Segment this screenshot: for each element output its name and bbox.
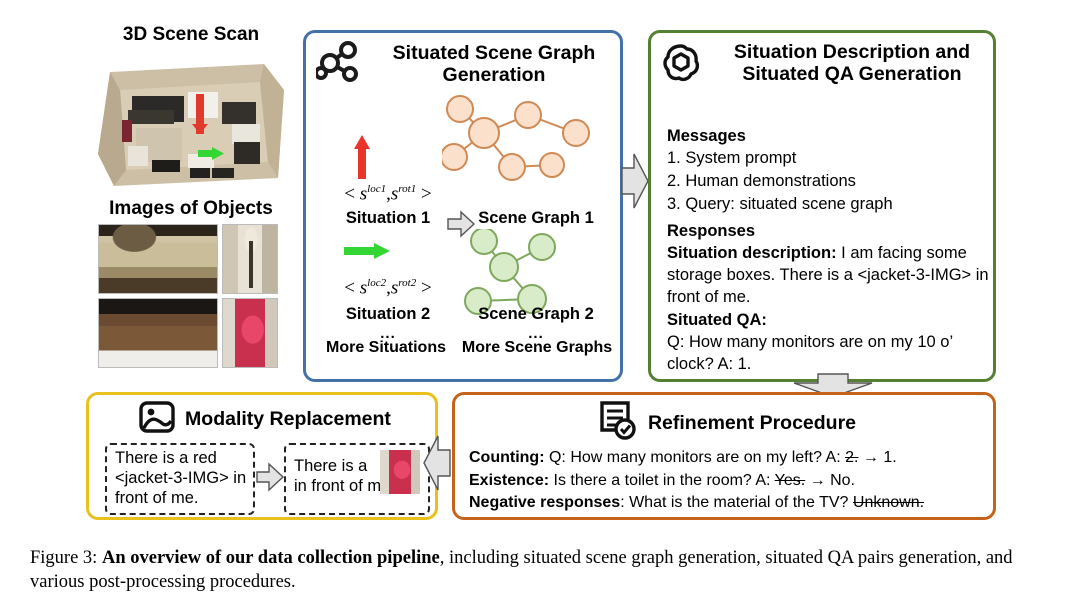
situated-scene-graph-panel: Situated Scene Graph Generation < sloc1,… (303, 30, 623, 382)
refinement-struck-negative: Unknown. (853, 494, 924, 511)
situation-description-label: Situation description: (667, 244, 837, 262)
modality-before-text: There is a red <jacket-3-IMG> in front o… (115, 449, 246, 507)
scene-scan-title: 3D Scene Scan (84, 24, 298, 46)
situation-description-panel: Situation Description and Situated QA Ge… (648, 30, 996, 382)
openai-logo-icon (659, 39, 703, 88)
refinement-row-negative: Negative responses: What is the material… (469, 492, 989, 515)
gpt-panel-title: Situation Description and Situated QA Ge… (713, 42, 991, 86)
dresser-photo (98, 224, 218, 294)
scene-graph-2-label: Scene Graph 2 (456, 305, 616, 324)
modality-replacement-panel: Modality Replacement There is a red <jac… (86, 392, 438, 520)
refinement-panel-body: Counting: Q: How many monitors are on my… (469, 447, 989, 515)
messages-heading: Messages (667, 126, 989, 148)
green-situation-arrow (344, 243, 390, 259)
scene-graph-1-diagram (442, 73, 622, 193)
lamp-photo (222, 224, 278, 294)
jacket-thumbnail (380, 450, 420, 494)
gpt-panel-body: Messages 1. System prompt 2. Human demon… (667, 121, 989, 377)
gpt-panel-header: Situation Description and Situated QA Ge… (659, 39, 991, 88)
modality-after-text-pre: There is a (294, 457, 367, 475)
figure-caption: Figure 3: An overview of our data collec… (30, 546, 1052, 595)
figure-canvas: 3D Scene Scan Images of Objects (0, 0, 1080, 540)
modality-panel-header: Modality Replacement (97, 400, 433, 439)
caption-prefix: Figure 3: (30, 548, 102, 568)
refinement-label-negative: Negative responses (469, 494, 620, 511)
more-scene-graphs-label: More Scene Graphs (452, 339, 622, 357)
refinement-text-existence: Is there a toilet in the room? A: (549, 472, 775, 489)
situation2-notation: < sloc2,srot2 > (312, 277, 464, 299)
situated-qa-label: Situated QA: (667, 310, 989, 332)
room-scan-svg (92, 50, 292, 195)
refinement-text-negative: : What is the material of the TV? (620, 494, 853, 511)
jacket-photo (222, 298, 278, 368)
situation1-label: Situation 1 (312, 209, 464, 228)
modality-before-box: There is a red <jacket-3-IMG> in front o… (105, 443, 255, 515)
message-item-3: 3. Query: situated scene graph (667, 194, 989, 216)
situation-description-row: Situation description: I am facing some … (667, 243, 989, 309)
refinement-text-counting: Q: How many monitors are on my left? A: (545, 449, 846, 466)
refinement-label-existence: Existence: (469, 472, 549, 489)
refinement-struck-existence: Yes. (775, 472, 806, 489)
desk-photo (98, 298, 218, 368)
refinement-after-counting: → 1. (858, 449, 896, 466)
red-situation-arrow (354, 135, 370, 179)
modality-panel-title: Modality Replacement (185, 409, 391, 431)
refinement-panel-title: Refinement Procedure (648, 413, 856, 435)
arrow-ssg-to-gpt (620, 150, 650, 212)
refinement-after-existence: → No. (805, 472, 855, 489)
responses-heading: Responses (667, 221, 989, 243)
arrow-modality-replace (255, 461, 285, 493)
caption-bold: An overview of our data collection pipel… (102, 548, 440, 568)
message-item-1: 1. System prompt (667, 148, 989, 170)
situation2-label: Situation 2 (312, 305, 464, 324)
arrow-refinement-to-modality (422, 432, 452, 494)
refinement-row-counting: Counting: Q: How many monitors are on my… (469, 447, 989, 470)
image-icon (139, 400, 175, 439)
refinement-panel-header: Refinement Procedure (455, 400, 999, 447)
refinement-row-existence: Existence: Is there a toilet in the room… (469, 470, 989, 493)
document-check-icon (598, 400, 638, 447)
modality-after-box: There is a in front of me. (284, 443, 430, 515)
situated-qa-text: Q: How many monitors are on my 10 o’ clo… (667, 332, 989, 376)
images-of-objects-title: Images of Objects (84, 198, 298, 220)
refinement-label-counting: Counting: (469, 449, 545, 466)
object-image-grid (98, 224, 288, 370)
scene-graph-1-label: Scene Graph 1 (456, 209, 616, 228)
more-situations-label: More Situations (306, 339, 466, 357)
refinement-struck-counting: 2. (845, 449, 858, 466)
scene-graph-icon (316, 41, 362, 88)
refinement-procedure-panel: Refinement Procedure Counting: Q: How ma… (452, 392, 996, 520)
3d-scene-scan-image (92, 50, 292, 195)
message-item-2: 2. Human demonstrations (667, 171, 989, 193)
situation-graph-grid: < sloc1,srot1 > Situation 1 < sloc2,srot… (306, 125, 620, 383)
